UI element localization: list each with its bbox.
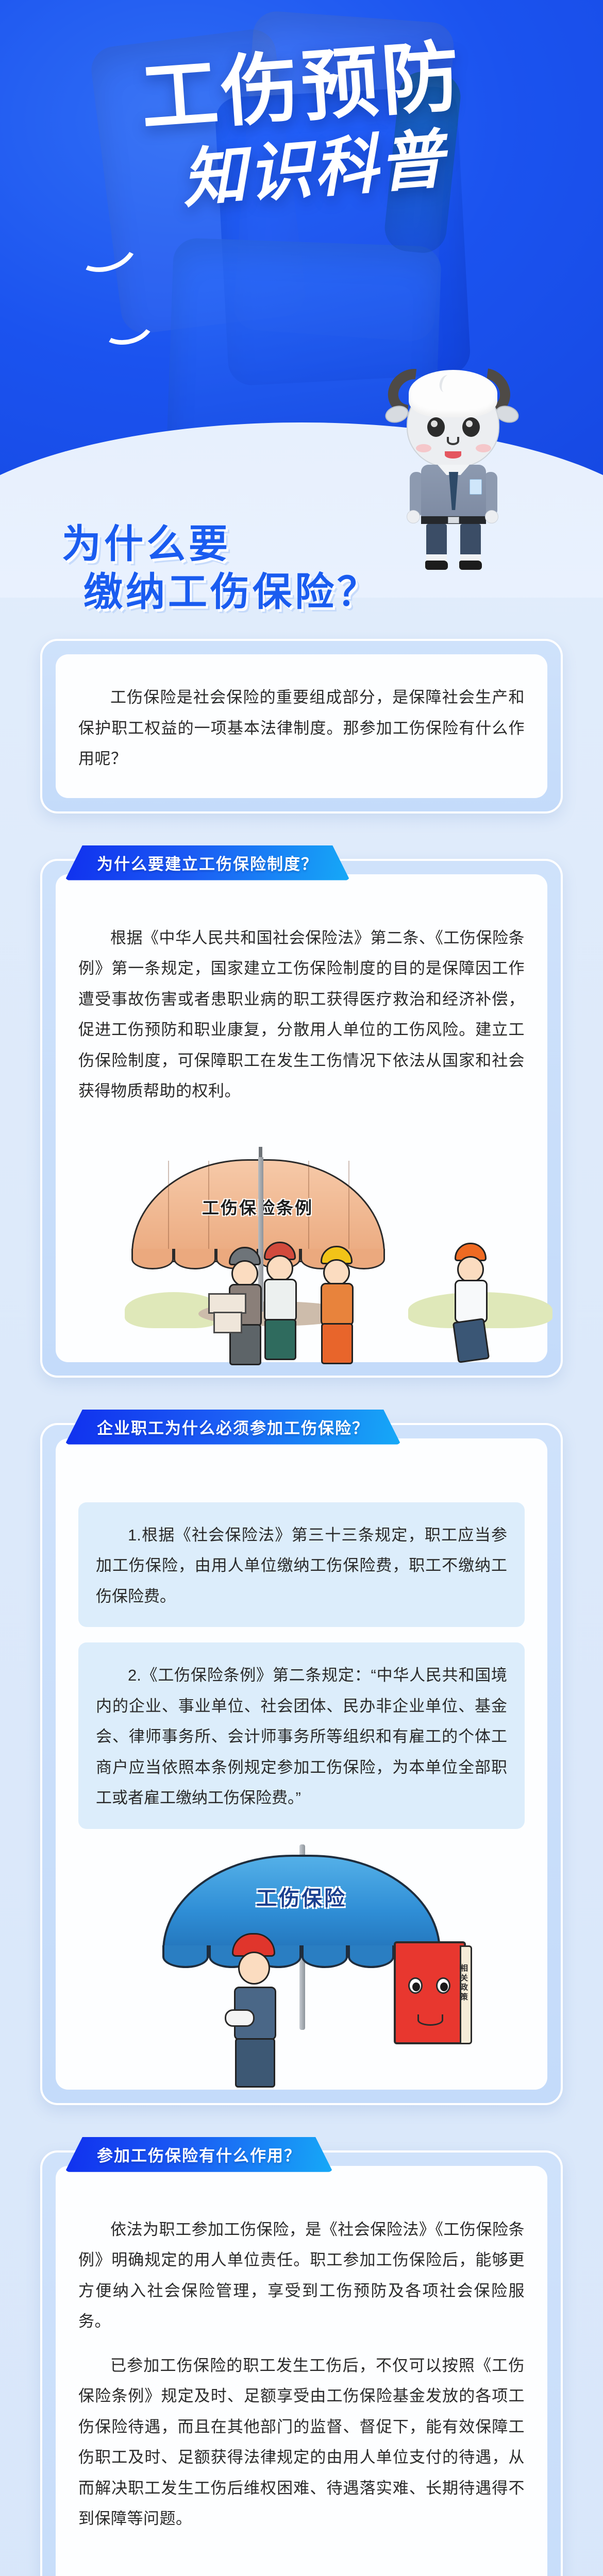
policy-book-character: 相关政策 xyxy=(394,1941,466,2044)
book-label-policy: 相关政策 xyxy=(459,1964,470,2003)
cargo-box-2 xyxy=(213,1312,242,1333)
sheep-wool-tuft xyxy=(409,370,497,417)
page-title-line-1: 为什么要 xyxy=(62,520,603,568)
sheep-cheek-left xyxy=(416,444,431,452)
card-why-establish-inner: 根据《中华人民共和国社会保险法》第二条、《工伤保险条例》第一条规定，国家建立工伤… xyxy=(56,874,547,1362)
umbrella-regulation-illustration: 工伤保险条例 xyxy=(78,1122,525,1338)
card-why-must-join-inner: 1.根据《社会保险法》第三十三条规定，职工应当参加工伤保险，由用人单位缴纳工伤保… xyxy=(56,1438,547,2090)
compensation-illustration: 工伤 保险待遇 xyxy=(78,2550,525,2576)
section-header-why-must-join: 企业职工为什么必须参加工伤保险？ xyxy=(65,1410,401,1445)
card-intro-inner: 工伤保险是社会保险的重要组成部分，是保障社会生产和保护职工权益的一项基本法律制度… xyxy=(56,654,547,798)
cargo-box-1 xyxy=(208,1293,246,1314)
hero-banner: 工伤预防 知识科普 xyxy=(0,0,603,598)
content-wrapper: 工伤保险是社会保险的重要组成部分，是保障社会生产和保护职工权益的一项基本法律制度… xyxy=(0,639,603,2576)
page-title-line-2: 缴纳工伤保险？ xyxy=(62,568,603,616)
sheep-id-badge xyxy=(470,479,482,495)
card-what-benefit-paragraph-2: 已参加工伤保险的职工发生工伤后，不仅可以按照《工伤保险条例》规定及时、足额享受由… xyxy=(78,2350,525,2534)
section-header-what-benefit: 参加工伤保险有什么作用？ xyxy=(65,2137,333,2172)
sheep-cheek-right xyxy=(476,444,491,452)
ribbon-spacer xyxy=(78,2194,525,2214)
subbox-item-2: 2.《工伤保险条例》第二条规定：“中华人民共和国境内的企业、事业单位、社会团体、… xyxy=(78,1642,525,1829)
section-header-why-establish: 为什么要建立工伤保险制度？ xyxy=(65,845,350,880)
subbox-item-2-text: 2.《工伤保险条例》第二条规定：“中华人民共和国境内的企业、事业单位、社会团体、… xyxy=(96,1660,507,1814)
sheep-eye-left xyxy=(427,417,445,437)
book-smile xyxy=(417,2014,443,2026)
subbox-item-1: 1.根据《社会保险法》第三十三条规定，职工应当参加工伤保险，由用人单位缴纳工伤保… xyxy=(78,1502,525,1628)
card-why-establish-paragraph: 根据《中华人民共和国社会保险法》第二条、《工伤保险条例》第一条规定，国家建立工伤… xyxy=(78,923,525,1107)
sheep-eye-right xyxy=(462,417,480,437)
arm-bandage xyxy=(225,2009,255,2027)
sheep-nose xyxy=(447,437,459,445)
card-why-must-join: 企业职工为什么必须参加工伤保险？ 1.根据《社会保险法》第三十三条规定，职工应当… xyxy=(40,1423,563,2105)
ribbon-spacer xyxy=(78,1466,525,1487)
ribbon-spacer xyxy=(78,902,525,923)
card-what-benefit: 参加工伤保险有什么作用？ 依法为职工参加工伤保险，是《社会保险法》《工伤保险条例… xyxy=(40,2150,563,2576)
page-title: 为什么要 缴纳工伤保险？ xyxy=(0,520,603,616)
card-what-benefit-inner: 依法为职工参加工伤保险，是《社会保险法》《工伤保险条例》明确规定的用人单位责任。… xyxy=(56,2166,547,2576)
umbrella-label-insurance: 工伤保险 xyxy=(229,1882,374,1911)
card-intro: 工伤保险是社会保险的重要组成部分，是保障社会生产和保护职工权益的一项基本法律制度… xyxy=(40,639,563,814)
umbrella-insurance-illustration: 工伤保险 相关政策 xyxy=(78,1844,525,2066)
sheep-mouth xyxy=(445,451,461,459)
subbox-item-1-text: 1.根据《社会保险法》第三十三条规定，职工应当参加工伤保险，由用人单位缴纳工伤保… xyxy=(96,1520,507,1612)
card-why-establish: 为什么要建立工伤保险制度？ 根据《中华人民共和国社会保险法》第二条、《工伤保险条… xyxy=(40,859,563,1378)
umbrella-label-regulation: 工伤保险条例 xyxy=(188,1194,327,1219)
book-eye-left xyxy=(408,1977,423,1994)
book-eye-right xyxy=(436,1977,450,1994)
card-intro-paragraph: 工伤保险是社会保险的重要组成部分，是保障社会生产和保护职工权益的一项基本法律制度… xyxy=(78,682,525,774)
card-what-benefit-paragraph-1: 依法为职工参加工伤保险，是《社会保险法》《工伤保险条例》明确规定的用人单位责任。… xyxy=(78,2214,525,2337)
